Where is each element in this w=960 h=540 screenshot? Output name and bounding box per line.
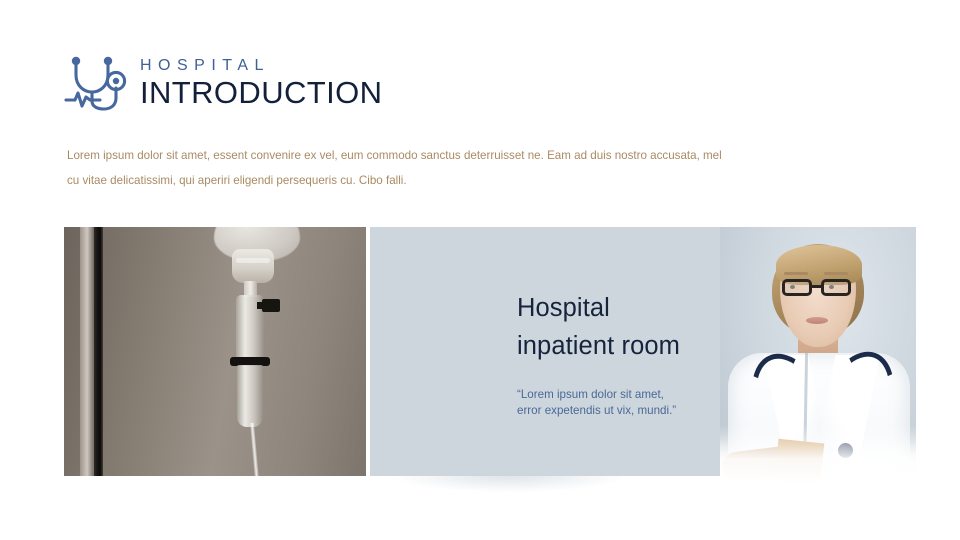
page-header: HOSPITAL INTRODUCTION: [64, 55, 382, 111]
doctor-glasses-icon: [778, 279, 858, 297]
doctor-lens-left: [782, 279, 812, 296]
doctor-lips: [806, 317, 828, 324]
iv-pole: [94, 227, 103, 476]
doctor-eyebrow-left: [784, 272, 808, 275]
title-stack: HOSPITAL INTRODUCTION: [140, 57, 382, 109]
iv-pole-highlight: [80, 227, 93, 476]
media-row: Hospital inpatient room “Lorem ipsum dol…: [64, 227, 896, 476]
doctor-glasses-bridge: [812, 285, 821, 288]
eyebrow-label: HOSPITAL: [140, 57, 382, 75]
iv-drip-photo: [64, 227, 366, 476]
doctor-lens-right: [821, 279, 851, 296]
panel-drop-shadow: [394, 476, 624, 492]
doctor-portrait: [720, 227, 916, 499]
iv-chamber-lower: [237, 365, 263, 427]
iv-valve: [262, 299, 280, 312]
doctor-bottom-fade: [720, 425, 916, 499]
iv-photo-background: [64, 227, 366, 476]
inpatient-room-panel: Hospital inpatient room “Lorem ipsum dol…: [370, 227, 896, 476]
stethoscope-icon: [64, 55, 130, 111]
doctor-eyebrow-right: [824, 272, 848, 275]
iv-cap: [232, 249, 274, 283]
page-title: INTRODUCTION: [140, 77, 382, 110]
lead-paragraph: Lorem ipsum dolor sit amet, essent conve…: [67, 143, 727, 193]
